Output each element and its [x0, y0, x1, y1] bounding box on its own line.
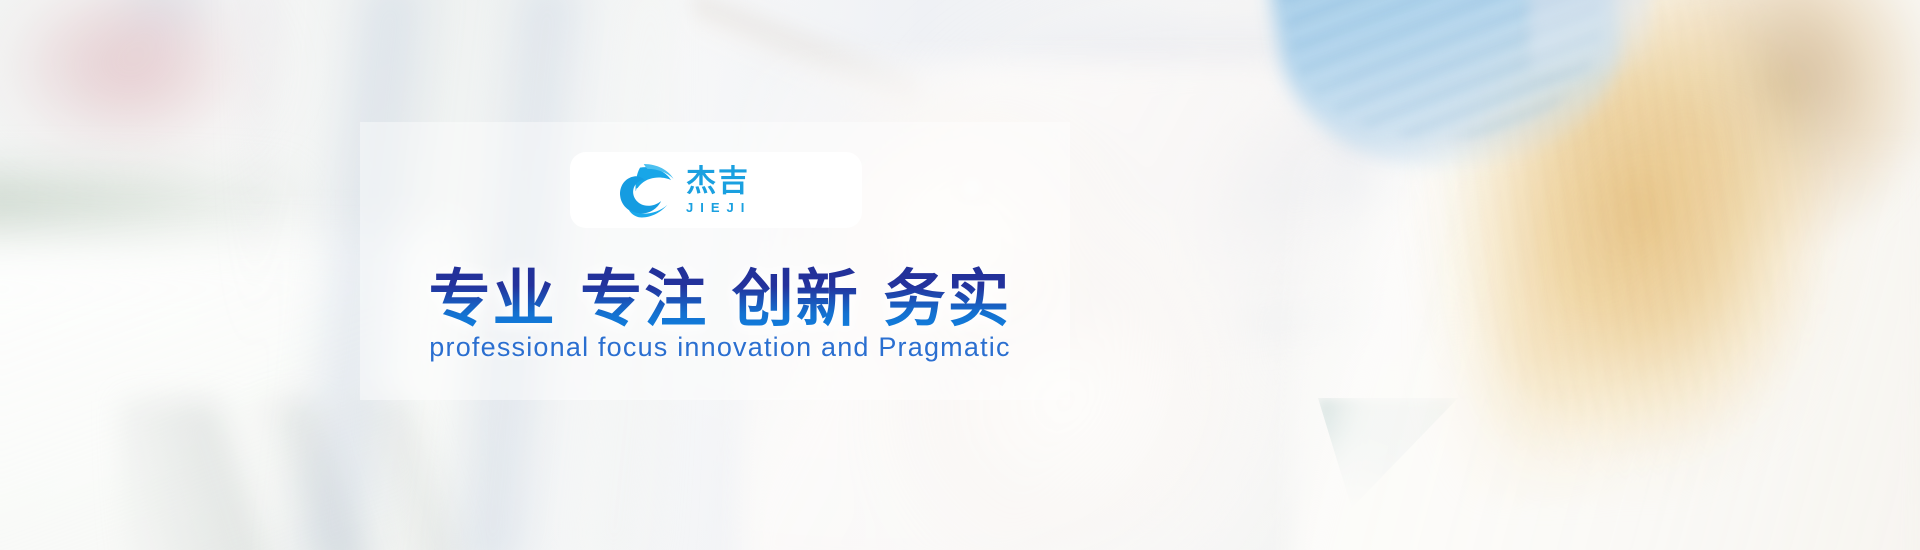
background-mask-earloop: [1530, 0, 1650, 70]
brand-logo[interactable]: 杰吉 JIEJI: [570, 152, 862, 228]
brand-wordmark: 杰吉 JIEJI: [686, 167, 751, 214]
slogan-english: professional focus innovation and Pragma…: [390, 332, 1050, 363]
slogan-chinese: 专业 专注 创新 务实: [390, 248, 1050, 338]
jieji-swoosh-logo-mark: [614, 159, 676, 221]
hero-banner: 杰吉 JIEJI 专业 专注 创新 务实 professional focus …: [0, 0, 1920, 550]
brand-name-pinyin: JIEJI: [686, 201, 751, 214]
brand-name-chinese: 杰吉: [686, 167, 751, 197]
